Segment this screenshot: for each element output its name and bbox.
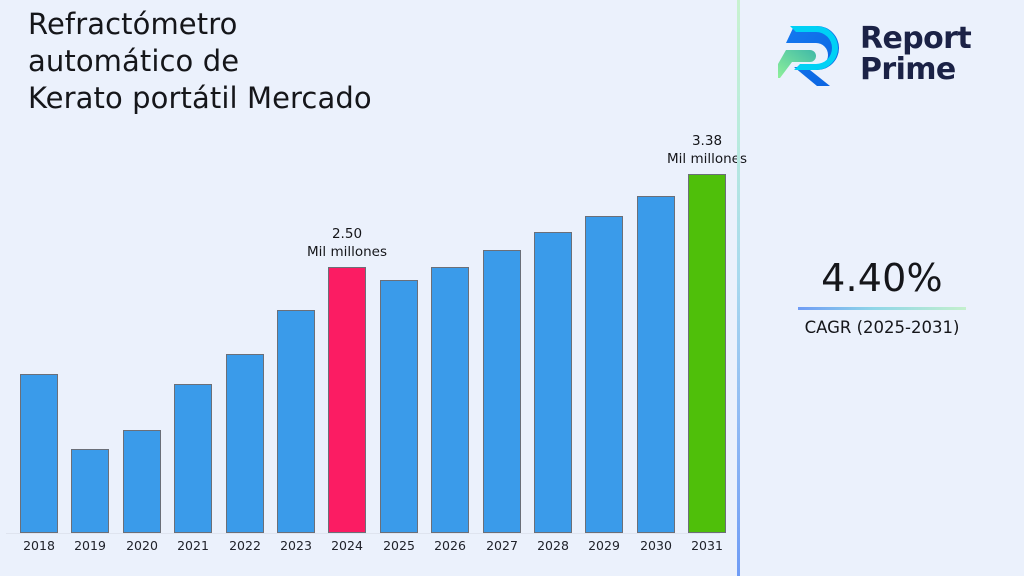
cagr-value: 4.40% [740, 255, 1024, 301]
bar-2022[interactable] [226, 354, 264, 533]
bar-2024[interactable]: 2.50Mil millones [328, 267, 366, 533]
bar-2019[interactable] [71, 449, 109, 533]
bar-2030[interactable] [637, 196, 675, 533]
bar-rect-2022[interactable] [226, 354, 264, 533]
x-tick-2026: 2026 [431, 538, 469, 553]
bar-rect-2018[interactable] [20, 374, 58, 533]
cagr-label: CAGR (2025-2031) [740, 317, 1024, 338]
bar-rect-2027[interactable] [483, 250, 521, 533]
bar-rect-2029[interactable] [585, 216, 623, 533]
chart-panel: Refractómetro automático de Kerato portá… [0, 0, 737, 576]
page-title: Refractómetro automático de Kerato portá… [28, 6, 372, 117]
x-tick-2020: 2020 [123, 538, 161, 553]
x-tick-2021: 2021 [174, 538, 212, 553]
bar-value-label-2024: 2.50Mil millones [307, 225, 387, 261]
x-tick-2022: 2022 [226, 538, 264, 553]
bar-rect-2019[interactable] [71, 449, 109, 533]
bar-2020[interactable] [123, 430, 161, 533]
x-tick-2018: 2018 [20, 538, 58, 553]
bar-chart-plot: 2.50Mil millones3.38Mil millones [0, 130, 737, 534]
bar-2025[interactable] [380, 280, 418, 533]
cagr-divider [798, 307, 966, 310]
bar-2027[interactable] [483, 250, 521, 533]
bar-2028[interactable] [534, 232, 572, 533]
bar-2031[interactable]: 3.38Mil millones [688, 174, 726, 533]
brand-name: Report Prime [860, 23, 971, 85]
x-tick-2023: 2023 [277, 538, 315, 553]
bar-rect-2025[interactable] [380, 280, 418, 533]
brand-logo: Report Prime [776, 12, 1002, 96]
bar-rect-2024[interactable] [328, 267, 366, 533]
bar-value-2024: 2.50 [307, 225, 387, 243]
bar-value-2031: 3.38 [667, 132, 747, 150]
bar-2029[interactable] [585, 216, 623, 533]
x-tick-2028: 2028 [534, 538, 572, 553]
bar-2026[interactable] [431, 267, 469, 533]
report-prime-logo-icon [776, 18, 848, 90]
bar-2018[interactable] [20, 374, 58, 533]
x-tick-2030: 2030 [637, 538, 675, 553]
x-axis-line [6, 533, 720, 534]
bar-rect-2030[interactable] [637, 196, 675, 533]
bar-2021[interactable] [174, 384, 212, 533]
x-tick-2027: 2027 [483, 538, 521, 553]
chart-page: Refractómetro automático de Kerato portá… [0, 0, 1024, 576]
bar-rect-2023[interactable] [277, 310, 315, 533]
x-tick-2024: 2024 [328, 538, 366, 553]
bar-rect-2020[interactable] [123, 430, 161, 533]
x-axis-tick-labels: 2018201920202021202220232024202520262027… [0, 538, 737, 562]
bar-unit-2031: Mil millones [667, 150, 747, 168]
bar-rect-2031[interactable] [688, 174, 726, 533]
x-tick-2029: 2029 [585, 538, 623, 553]
summary-panel: Report Prime 4.40% CAGR (2025-2031) [740, 0, 1024, 576]
bar-rect-2026[interactable] [431, 267, 469, 533]
x-tick-2031: 2031 [688, 538, 726, 553]
bar-rect-2028[interactable] [534, 232, 572, 533]
cagr-block: 4.40% CAGR (2025-2031) [740, 255, 1024, 338]
bar-2023[interactable] [277, 310, 315, 533]
x-tick-2025: 2025 [380, 538, 418, 553]
bar-unit-2024: Mil millones [307, 243, 387, 261]
x-tick-2019: 2019 [71, 538, 109, 553]
bar-rect-2021[interactable] [174, 384, 212, 533]
bar-value-label-2031: 3.38Mil millones [667, 132, 747, 168]
